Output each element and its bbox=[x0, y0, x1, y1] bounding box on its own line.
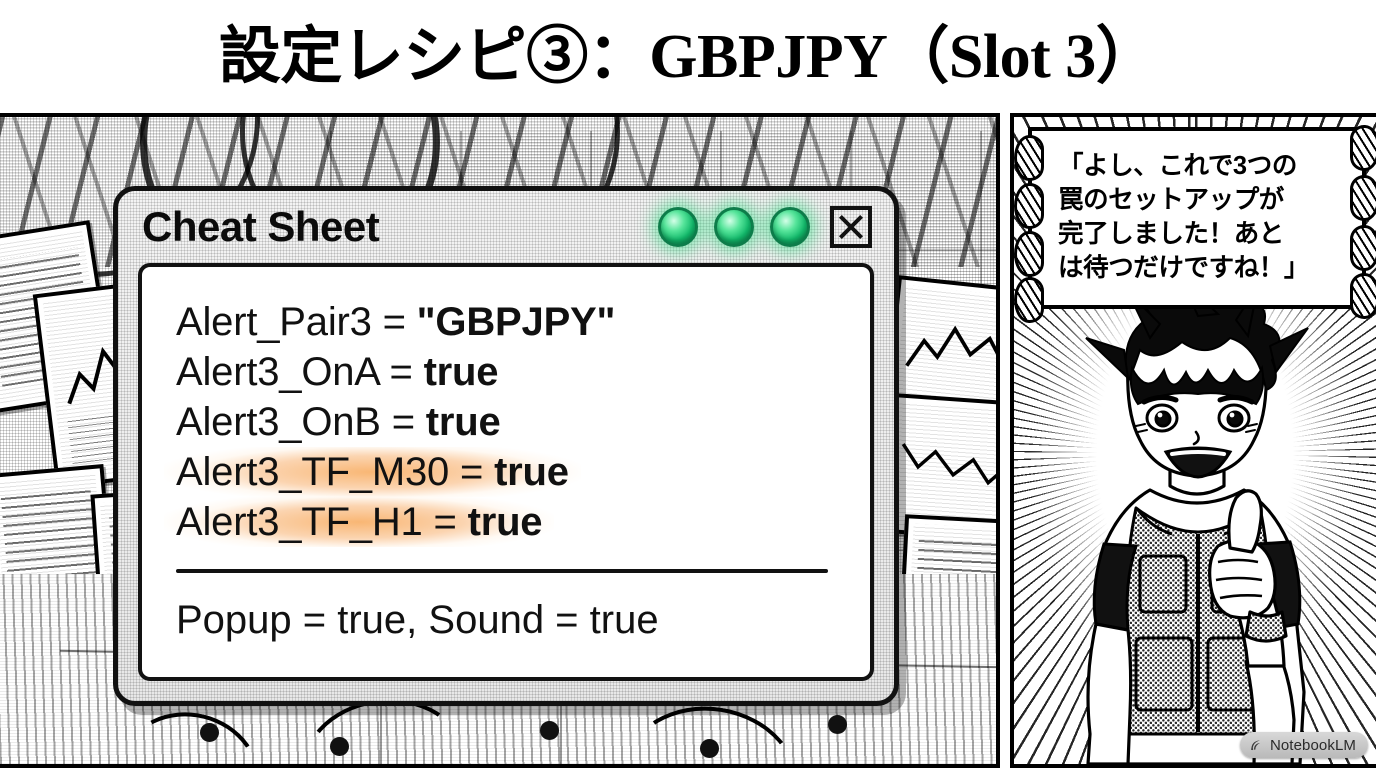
config-key: Alert3_TF_M30 = bbox=[176, 450, 494, 494]
notebooklm-watermark: NotebookLM bbox=[1240, 732, 1368, 758]
watermark-label: NotebookLM bbox=[1270, 737, 1356, 754]
config-key: Alert3_OnA = bbox=[176, 350, 424, 394]
notification-settings-line: Popup = true, Sound = true bbox=[176, 595, 870, 645]
chart-icon bbox=[902, 309, 1000, 398]
bubble-scallop bbox=[1014, 277, 1044, 323]
config-key: Alert_Pair3 = bbox=[176, 300, 417, 344]
close-icon[interactable] bbox=[830, 206, 872, 248]
window-title: Cheat Sheet bbox=[142, 206, 642, 248]
panel-left-office: Cheat Sheet Alert_Pair3 = "GBPJPY" Alert… bbox=[0, 113, 1000, 768]
status-led-1-icon bbox=[658, 207, 698, 247]
bubble-scallop bbox=[1350, 273, 1376, 319]
status-led-2-icon bbox=[714, 207, 754, 247]
bubble-scallop bbox=[1014, 135, 1044, 181]
speech-text: 「よし、これで3つの 罠のセットアップが 完了しました！あと は待つだけですね！… bbox=[1058, 149, 1344, 285]
divider bbox=[176, 569, 828, 573]
config-line: Alert_Pair3 = "GBPJPY" bbox=[176, 297, 615, 347]
notebooklm-logo-icon bbox=[1248, 737, 1264, 753]
status-led-3-icon bbox=[770, 207, 810, 247]
chair-wheel bbox=[200, 723, 219, 742]
title-bar: 設定レシピ③：GBPJPY（Slot 3） bbox=[0, 0, 1376, 113]
speech-bubble: 「よし、これで3つの 罠のセットアップが 完了しました！あと は待つだけですね！… bbox=[1028, 127, 1366, 309]
config-value: true bbox=[426, 400, 501, 444]
config-line: Alert3_OnB = true bbox=[176, 397, 501, 447]
config-line: Alert3_OnA = true bbox=[176, 347, 498, 397]
chair-wheel bbox=[828, 715, 847, 734]
bubble-scallop bbox=[1014, 183, 1044, 229]
config-key: Alert3_OnB = bbox=[176, 400, 426, 444]
cheat-sheet-body: Alert_Pair3 = "GBPJPY" Alert3_OnA = true… bbox=[138, 263, 874, 681]
config-line-highlighted: Alert3_TF_H1 = true bbox=[164, 497, 554, 547]
bubble-scallop bbox=[1014, 231, 1044, 277]
chair-wheel bbox=[700, 739, 719, 758]
manga-panels: Cheat Sheet Alert_Pair3 = "GBPJPY" Alert… bbox=[0, 113, 1376, 768]
chart-icon bbox=[898, 425, 1000, 503]
page-title: 設定レシピ③：GBPJPY（Slot 3） bbox=[219, 26, 1157, 88]
character-illustration bbox=[1032, 294, 1362, 764]
slide-root: 設定レシピ③：GBPJPY（Slot 3） bbox=[0, 0, 1376, 768]
bubble-scallop bbox=[1350, 125, 1376, 171]
config-value: true bbox=[424, 350, 499, 394]
monitor-screen bbox=[889, 402, 1000, 531]
config-value: true bbox=[468, 500, 543, 544]
config-line-highlighted: Alert3_TF_M30 = true bbox=[164, 447, 581, 497]
config-value: true bbox=[494, 450, 569, 494]
cheat-sheet-window[interactable]: Cheat Sheet Alert_Pair3 = "GBPJPY" Alert… bbox=[113, 186, 899, 706]
window-titlebar[interactable]: Cheat Sheet bbox=[118, 191, 894, 263]
panel-right-character: 「よし、これで3つの 罠のセットアップが 完了しました！あと は待つだけですね！… bbox=[1010, 113, 1376, 768]
bubble-scallop bbox=[1350, 225, 1376, 271]
config-key: Alert3_TF_H1 = bbox=[176, 500, 468, 544]
chair-wheel bbox=[540, 721, 559, 740]
config-value: "GBPJPY" bbox=[417, 300, 616, 344]
chair-wheel bbox=[330, 737, 349, 756]
bubble-scallop bbox=[1350, 175, 1376, 221]
